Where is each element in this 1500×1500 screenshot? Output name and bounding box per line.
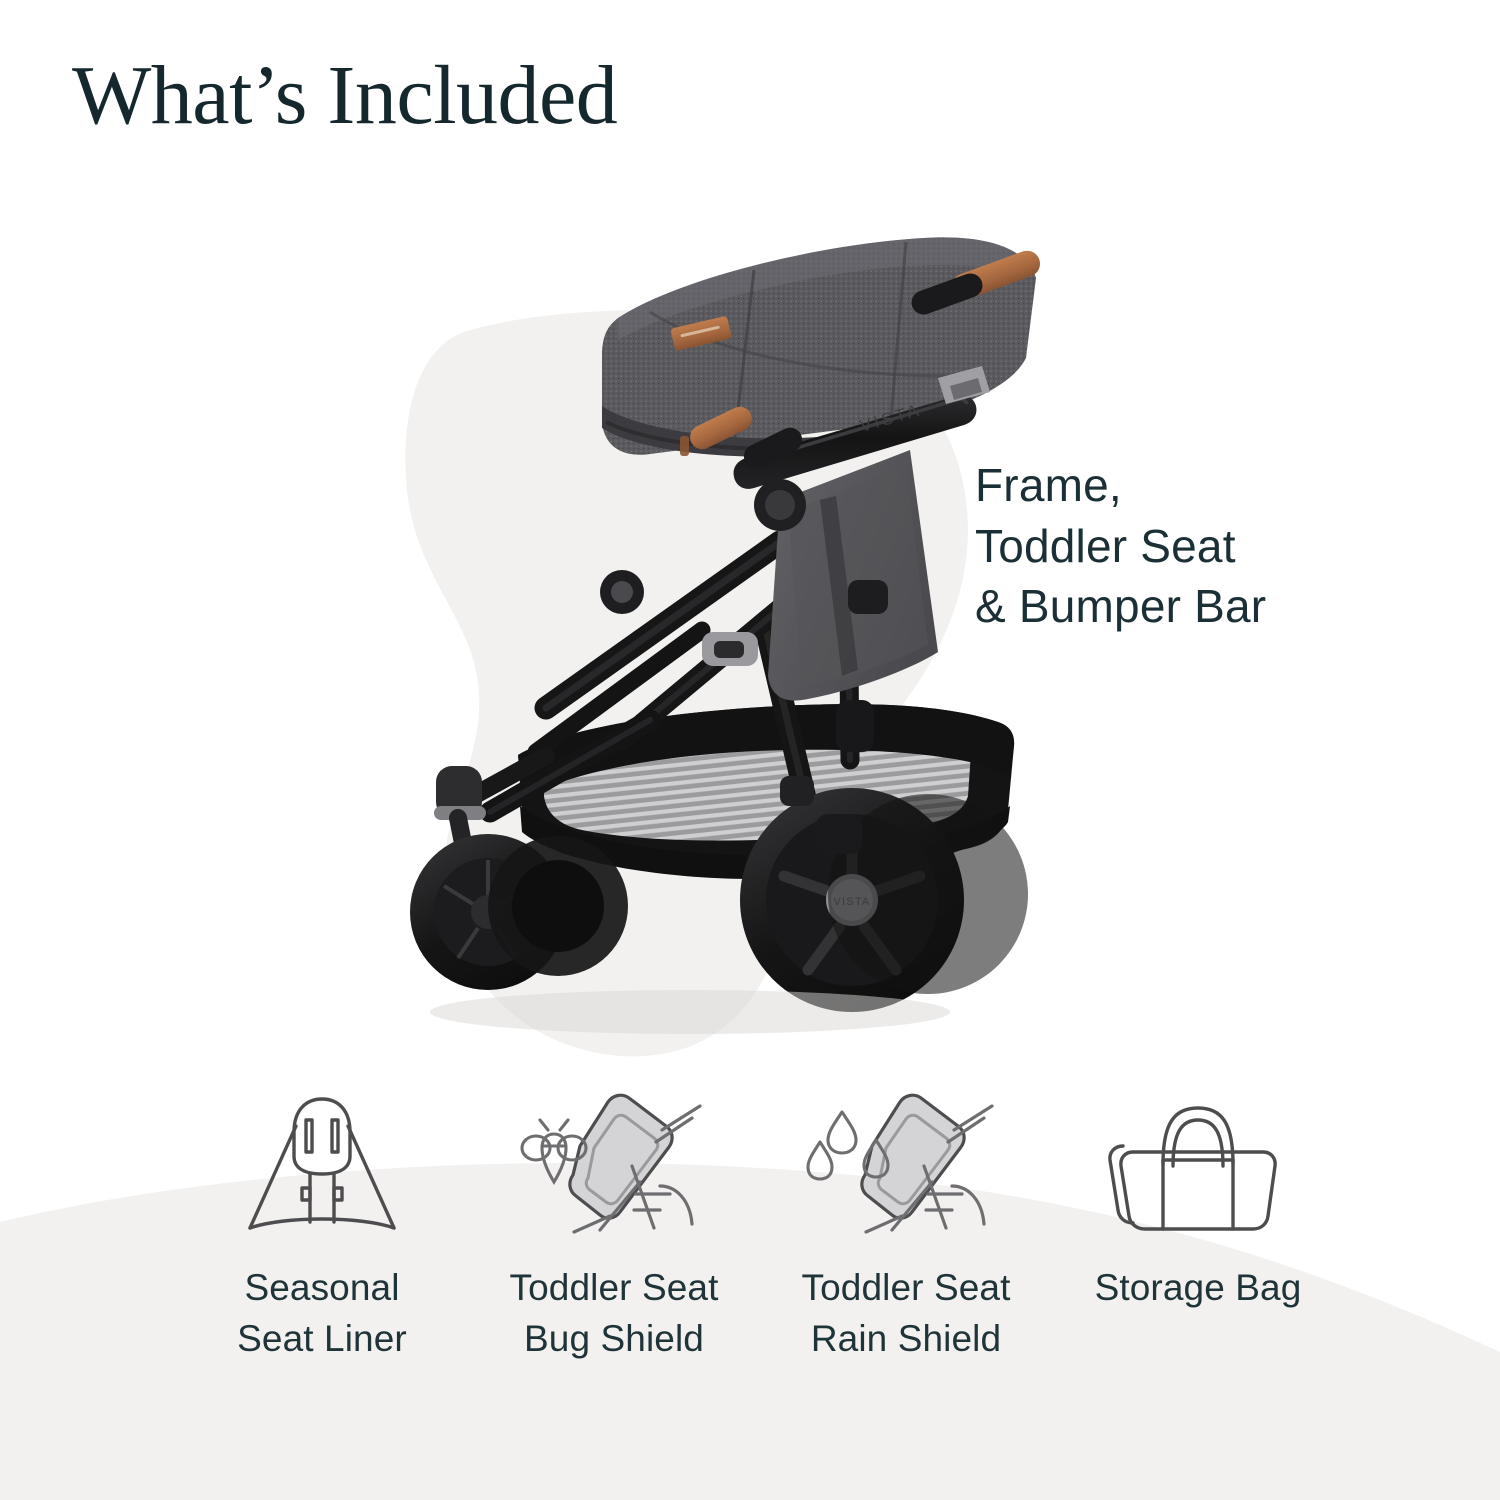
bug-shield-icon — [514, 1090, 714, 1240]
icon-art-wrap — [232, 1090, 412, 1240]
icon-art-wrap — [1103, 1090, 1293, 1240]
stroller-canopy — [602, 237, 1036, 456]
included-item-storage-bag: Storage Bag — [1052, 1090, 1344, 1313]
storage-bag-icon — [1103, 1090, 1293, 1240]
included-item-label: Toddler Seat Bug Shield — [510, 1262, 719, 1364]
label-line-1: Toddler Seat — [802, 1262, 1011, 1313]
callout-line-3: & Bumper Bar — [975, 576, 1266, 637]
hero-product-image: VISTA — [350, 200, 1070, 1060]
included-item-label: Toddler Seat Rain Shield — [802, 1262, 1011, 1364]
included-items-row: Seasonal Seat Liner — [0, 1090, 1500, 1430]
included-item-label: Seasonal Seat Liner — [237, 1262, 407, 1364]
ground-shadow — [430, 990, 950, 1034]
callout-line-1: Frame, — [975, 455, 1266, 516]
label-line-2: Rain Shield — [802, 1313, 1011, 1364]
included-item-rain-shield: Toddler Seat Rain Shield — [760, 1090, 1052, 1364]
label-line-2: Bug Shield — [510, 1313, 719, 1364]
label-line-1: Storage Bag — [1095, 1262, 1302, 1313]
label-line-2: Seat Liner — [237, 1313, 407, 1364]
stroller-illustration: VISTA — [350, 200, 1070, 1060]
seat-liner-icon — [232, 1090, 412, 1240]
included-item-seat-liner: Seasonal Seat Liner — [176, 1090, 468, 1364]
callout-line-2: Toddler Seat — [975, 516, 1266, 577]
included-item-bug-shield: Toddler Seat Bug Shield — [468, 1090, 760, 1364]
rear-axle-housing — [816, 814, 862, 854]
page-title: What’s Included — [72, 52, 617, 140]
rain-shield-icon — [806, 1090, 1006, 1240]
infographic-canvas: What’s Included — [0, 0, 1500, 1500]
rear-wheel: VISTA — [740, 788, 1028, 1012]
label-line-1: Toddler Seat — [510, 1262, 719, 1313]
hero-callout: Frame, Toddler Seat & Bumper Bar — [975, 455, 1266, 637]
label-line-1: Seasonal — [237, 1262, 407, 1313]
included-item-label: Storage Bag — [1095, 1262, 1302, 1313]
icon-art-wrap — [806, 1090, 1006, 1240]
icon-art-wrap — [514, 1090, 714, 1240]
